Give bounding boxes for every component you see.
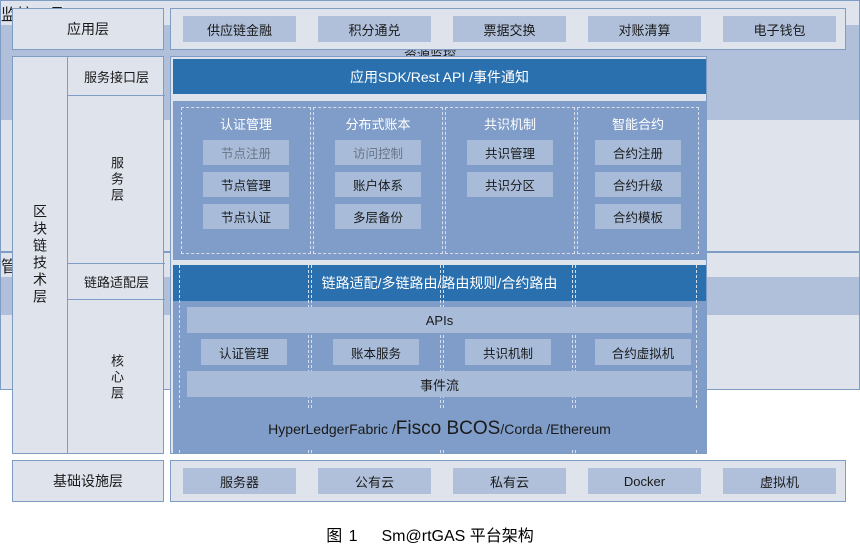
core-module-consensus-mechanism[interactable]: 共识机制 xyxy=(465,339,551,365)
figure-number: 图 1 xyxy=(326,528,358,545)
blockchain-tech-layer-sidebar: 区块链技术层 服务接口层 服务层 链路适配层 核心层 xyxy=(12,56,164,454)
figure-caption: 图 1 Sm@rtGAS 平台架构 xyxy=(0,522,860,546)
architecture-diagram: 应用层 供应链金融 积分通兑 票据交换 对账清算 电子钱包 区块链技术层 服务接… xyxy=(0,0,860,520)
service-layer-body: 认证管理 节点注册 节点管理 节点认证 分布式账本 访问控制 账户体系 多层备份… xyxy=(173,101,706,260)
service-item-consensus-partition[interactable]: 共识分区 xyxy=(467,172,553,197)
service-interface-bar: 应用SDK/Rest API /事件通知 xyxy=(173,59,706,94)
app-item-points-exchange[interactable]: 积分通兑 xyxy=(318,16,431,42)
service-column-title: 共识机制 xyxy=(484,114,536,133)
infra-item-server[interactable]: 服务器 xyxy=(183,468,296,494)
service-item-access-control[interactable]: 访问控制 xyxy=(335,140,421,165)
sublayer-core-text: 核心层 xyxy=(107,354,126,402)
sublayer-service-text: 服务层 xyxy=(107,156,126,204)
link-adaptation-bar: 链路适配/多链路由/路由规则/合约路由 xyxy=(173,265,706,301)
sublayer-core: 核心层 xyxy=(68,300,165,455)
service-interface-bar-text: 应用SDK/Rest API /事件通知 xyxy=(350,67,529,87)
chain-engine-hyperledger: HyperLedgerFabric / xyxy=(268,421,396,437)
application-layer-label-text: 应用层 xyxy=(67,19,109,39)
link-adaptation-bar-text: 链路适配/多链路由/路由规则/合约路由 xyxy=(322,273,558,293)
service-item-account-system[interactable]: 账户体系 xyxy=(335,172,421,197)
infra-item-docker[interactable]: Docker xyxy=(588,468,701,494)
service-item-node-management[interactable]: 节点管理 xyxy=(203,172,289,197)
service-item-node-certification[interactable]: 节点认证 xyxy=(203,204,289,229)
sublayer-link-adaptation-text: 链路适配层 xyxy=(84,272,149,291)
application-layer-items: 供应链金融 积分通兑 票据交换 对账清算 电子钱包 xyxy=(170,8,846,50)
figure-title: Sm@rtGAS 平台架构 xyxy=(382,528,534,545)
service-column-distributed-ledger: 分布式账本 访问控制 账户体系 多层备份 xyxy=(313,107,443,254)
app-item-supply-chain-finance[interactable]: 供应链金融 xyxy=(183,16,296,42)
infra-item-public-cloud[interactable]: 公有云 xyxy=(318,468,431,494)
service-item-contract-registration[interactable]: 合约注册 xyxy=(595,140,681,165)
app-item-bill-exchange[interactable]: 票据交换 xyxy=(453,16,566,42)
sublayer-link-adaptation: 链路适配层 xyxy=(68,264,165,300)
service-column-auth-management: 认证管理 节点注册 节点管理 节点认证 xyxy=(181,107,311,254)
infra-item-virtual-machine[interactable]: 虚拟机 xyxy=(723,468,836,494)
core-module-contract-vm[interactable]: 合约虚拟机 xyxy=(595,339,691,365)
infrastructure-layer-items: 服务器 公有云 私有云 Docker 虚拟机 xyxy=(170,460,846,502)
core-module-ledger-service[interactable]: 账本服务 xyxy=(333,339,419,365)
core-layer-body: APIs 认证管理 账本服务 共识机制 合约虚拟机 事件流 HyperLedge… xyxy=(173,301,706,453)
infra-item-private-cloud[interactable]: 私有云 xyxy=(453,468,566,494)
service-item-node-registration[interactable]: 节点注册 xyxy=(203,140,289,165)
chain-engines-bar: HyperLedgerFabric / Fisco BCOS /Corda /E… xyxy=(175,409,704,449)
blockchain-tech-layer-label-text: 区块链技术层 xyxy=(30,204,50,306)
core-apis-bar: APIs xyxy=(187,307,692,333)
sublayer-service-interface-text: 服务接口层 xyxy=(84,67,149,86)
sublayer-service: 服务层 xyxy=(68,96,165,264)
service-column-title: 智能合约 xyxy=(612,114,664,133)
blockchain-tech-layer-label: 区块链技术层 xyxy=(13,57,68,453)
service-column-consensus-mechanism: 共识机制 共识管理 共识分区 xyxy=(445,107,575,254)
core-modules-row: 认证管理 账本服务 共识机制 合约虚拟机 xyxy=(173,339,706,365)
infrastructure-layer-label: 基础设施层 xyxy=(12,460,164,502)
service-item-consensus-management[interactable]: 共识管理 xyxy=(467,140,553,165)
sublayer-service-interface: 服务接口层 xyxy=(68,57,165,96)
core-event-stream-bar: 事件流 xyxy=(187,371,692,397)
infrastructure-layer-label-text: 基础设施层 xyxy=(53,471,123,491)
service-item-contract-upgrade[interactable]: 合约升级 xyxy=(595,172,681,197)
service-column-smart-contract: 智能合约 合约注册 合约升级 合约模板 xyxy=(577,107,699,254)
service-item-contract-template[interactable]: 合约模板 xyxy=(595,204,681,229)
service-item-multi-layer-backup[interactable]: 多层备份 xyxy=(335,204,421,229)
service-column-title: 分布式账本 xyxy=(345,114,410,133)
application-layer-label: 应用层 xyxy=(12,8,164,50)
chain-engine-fisco-bcos: Fisco BCOS xyxy=(396,418,501,440)
app-item-e-wallet[interactable]: 电子钱包 xyxy=(723,16,836,42)
core-apis-bar-text: APIs xyxy=(426,313,453,328)
service-column-title: 认证管理 xyxy=(220,114,272,133)
core-module-auth-management[interactable]: 认证管理 xyxy=(201,339,287,365)
app-item-reconciliation-settlement[interactable]: 对账清算 xyxy=(588,16,701,42)
chain-engine-corda-ethereum: /Corda /Ethereum xyxy=(500,421,611,437)
core-event-stream-text: 事件流 xyxy=(420,375,459,394)
tech-layer-content: 应用SDK/Rest API /事件通知 认证管理 节点注册 节点管理 节点认证… xyxy=(170,56,707,454)
